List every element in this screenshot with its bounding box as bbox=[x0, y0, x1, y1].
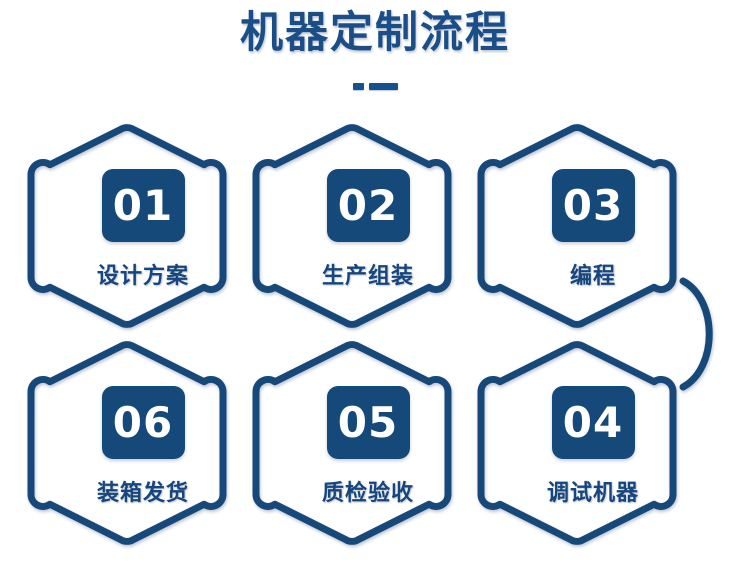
step-number-badge-03: 03 bbox=[552, 169, 635, 242]
dash-short-icon bbox=[353, 83, 364, 90]
step-node-04[interactable]: 04 调试机器 bbox=[477, 343, 709, 549]
step-node-06[interactable]: 06 装箱发货 bbox=[27, 343, 259, 549]
step-node-01[interactable]: 01 设计方案 bbox=[27, 126, 259, 332]
page-title: 机器定制流程 bbox=[0, 12, 750, 55]
step-label-02: 生产组装 bbox=[322, 258, 414, 290]
step-node-03[interactable]: 03 编程 bbox=[477, 126, 709, 332]
step-label-01: 设计方案 bbox=[97, 258, 189, 290]
step-number-badge-05: 05 bbox=[327, 386, 410, 459]
step-node-05[interactable]: 05 质检验收 bbox=[252, 343, 484, 549]
dash-long-icon bbox=[369, 83, 398, 90]
step-number-badge-06: 06 bbox=[102, 386, 185, 459]
step-number-badge-04: 04 bbox=[552, 386, 635, 459]
step-label-06: 装箱发货 bbox=[97, 475, 189, 507]
step-number-badge-02: 02 bbox=[327, 169, 410, 242]
step-node-02[interactable]: 02 生产组装 bbox=[252, 126, 484, 332]
step-number-badge-01: 01 bbox=[102, 169, 185, 242]
step-label-04: 调试机器 bbox=[547, 475, 639, 507]
step-label-03: 编程 bbox=[570, 258, 616, 290]
title-underline-decoration bbox=[0, 80, 750, 92]
machine-customization-flow-diagram: 机器定制流程 01 设计方案 02 bbox=[0, 0, 750, 581]
step-label-05: 质检验收 bbox=[322, 475, 414, 507]
